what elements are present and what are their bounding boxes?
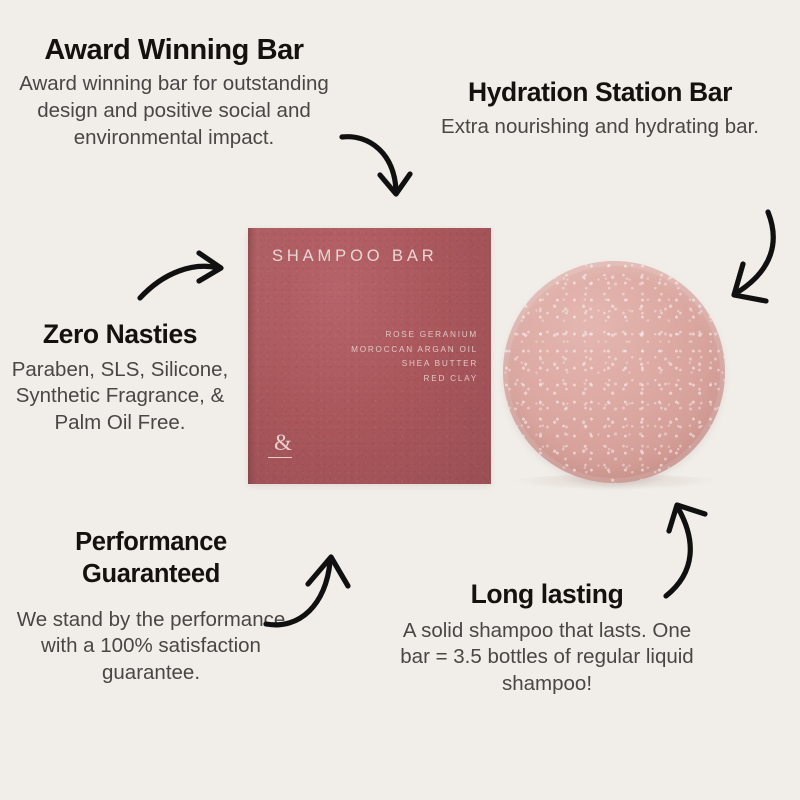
product-feature-infographic: Award Winning Bar Award winning bar for … xyxy=(0,0,800,800)
feature-performance-guaranteed: Performance Guaranteed We stand by the p… xyxy=(6,527,296,687)
soap-bar-speckle-texture xyxy=(503,261,725,483)
feature-body-zero-nasties: Paraben, SLS, Silicone, Synthetic Fragra… xyxy=(0,357,246,437)
feature-title-zero-nasties: Zero Nasties xyxy=(0,320,246,350)
feature-body-hydration: Extra nourishing and hydrating bar. xyxy=(432,114,768,141)
ingredient-line: SHEA BUTTER xyxy=(351,357,478,372)
ingredient-line: ROSE GERANIUM xyxy=(351,328,478,343)
ingredient-line: MOROCCAN ARGAN OIL xyxy=(351,343,478,358)
arrow-to-box-top-icon xyxy=(330,120,420,210)
feature-body-award: Award winning bar for outstanding design… xyxy=(8,71,340,151)
feature-body-performance: We stand by the performance with a 100% … xyxy=(6,607,296,687)
feature-title-hydration: Hydration Station Bar xyxy=(432,78,768,108)
ingredient-line: RED CLAY xyxy=(351,372,478,387)
logo-underline xyxy=(268,457,292,459)
arrow-to-soap-bar-top-icon xyxy=(722,204,792,309)
feature-title-performance: Performance Guaranteed xyxy=(6,527,296,591)
arrow-to-box-left-icon xyxy=(136,250,228,310)
feature-title-award: Award Winning Bar xyxy=(8,34,340,66)
feature-long-lasting: Long lasting A solid shampoo that lasts.… xyxy=(388,580,706,698)
round-shampoo-bar xyxy=(503,261,725,483)
box-ingredient-list: ROSE GERANIUM MOROCCAN ARGAN OIL SHEA BU… xyxy=(351,328,478,386)
brand-ampersand-logo: & xyxy=(268,431,298,459)
box-side-panel xyxy=(248,228,257,484)
feature-hydration-station-bar: Hydration Station Bar Extra nourishing a… xyxy=(432,78,768,140)
feature-zero-nasties: Zero Nasties Paraben, SLS, Silicone, Syn… xyxy=(0,320,246,437)
product-box-packaging: SHAMPOO BAR ROSE GERANIUM MOROCCAN ARGAN… xyxy=(248,228,491,484)
ampersand-glyph: & xyxy=(268,431,298,454)
feature-title-long-lasting: Long lasting xyxy=(388,580,706,610)
soap-bar-rim-highlight xyxy=(503,261,725,483)
box-product-title: SHAMPOO BAR xyxy=(272,247,438,266)
feature-award-winning-bar: Award Winning Bar Award winning bar for … xyxy=(8,34,340,151)
feature-body-long-lasting: A solid shampoo that lasts. One bar = 3.… xyxy=(388,618,706,698)
